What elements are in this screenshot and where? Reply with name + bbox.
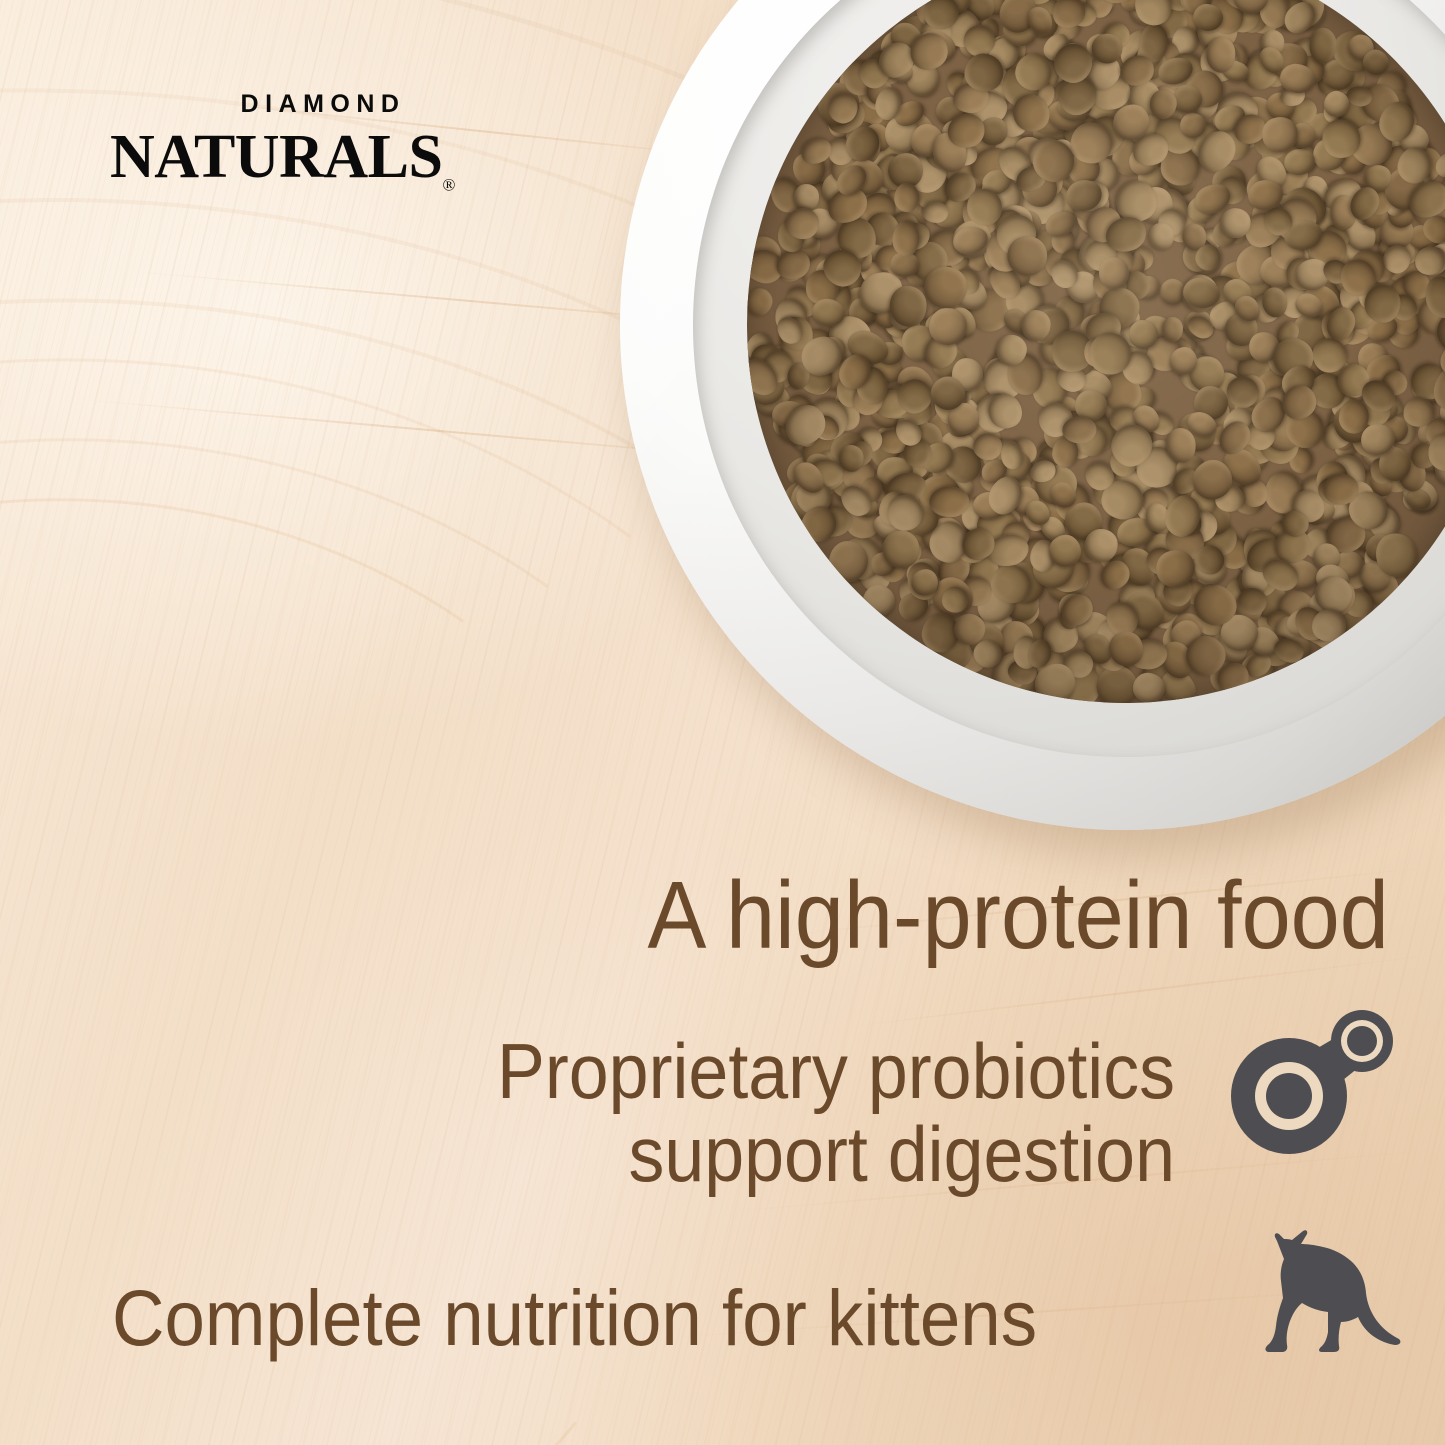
claim-probiotics-line-1: Proprietary probiotics (497, 1027, 1175, 1115)
claim-kitten-nutrition: Complete nutrition for kittens (112, 1278, 1037, 1357)
kitten-silhouette-icon (1255, 1228, 1405, 1363)
page-title: A high-protein food (648, 868, 1389, 964)
probiotic-cell-icon (1215, 1000, 1400, 1180)
brand-logo-naturals-text: NATURALS (110, 123, 442, 191)
product-marketing-image: DIAMOND NATURALS® A high-protein food Pr… (0, 0, 1445, 1445)
registered-trademark-symbol: ® (442, 175, 455, 194)
brand-logo-diamond: DIAMOND (110, 92, 530, 117)
claim-probiotics-line-2: support digestion (347, 1113, 1175, 1196)
brand-logo: DIAMOND NATURALS® (110, 92, 530, 194)
claim-probiotics: Proprietary probiotics support digestion (347, 1030, 1175, 1197)
brand-logo-naturals: NATURALS® (110, 126, 530, 194)
